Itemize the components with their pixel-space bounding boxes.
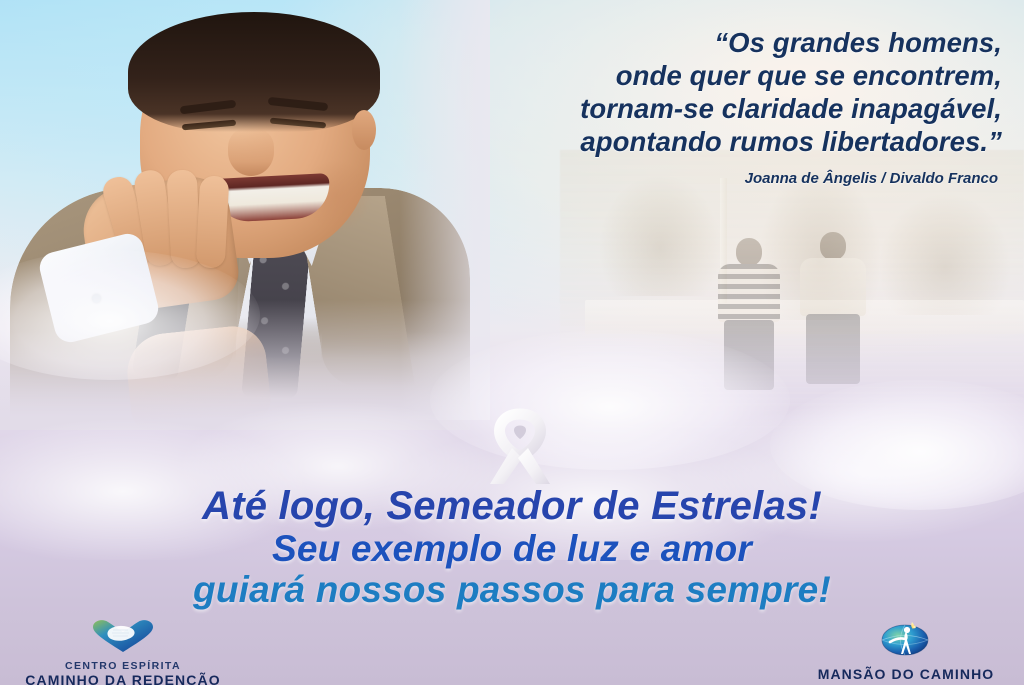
portrait-nose (228, 128, 274, 176)
figure-legs (724, 320, 775, 390)
portrait-hair (128, 12, 380, 132)
quote-line-1: “Os grandes homens, (442, 26, 1002, 59)
mourning-ribbon-icon (470, 402, 570, 490)
background-foliage-icon (600, 176, 720, 296)
quote-line-3: tornam-se claridade inapagável, (442, 92, 1002, 125)
figure-torso (718, 264, 780, 322)
globe-figure-torch-icon (796, 618, 1016, 663)
quote-line-4: apontando rumos libertadores.” (442, 125, 1002, 158)
quote-line-2: onde quer que se encontrem, (442, 59, 1002, 92)
portrait-ear (352, 110, 376, 150)
headline-line-1: Até logo, Semeador de Estrelas! (0, 484, 1024, 528)
logo-mansao-do-caminho: MANSÃO DO CAMINHO (796, 618, 1016, 682)
logo-left-line-2: CAMINHO DA REDENÇÃO (8, 672, 238, 685)
logo-right-line-1: MANSÃO DO CAMINHO (796, 666, 1016, 682)
figure-torso (800, 258, 866, 316)
headline-line-3: guiará nossos passos para sempre! (0, 569, 1024, 610)
logo-centro-espirita: CENTRO ESPÍRITA CAMINHO DA REDENÇÃO (8, 618, 238, 685)
memorial-poster: “Os grandes homens, onde quer que se enc… (0, 0, 1024, 685)
background-palm-icon (880, 195, 1010, 315)
quote-attribution: Joanna de Ângelis / Divaldo Franco (438, 170, 998, 187)
heart-hand-icon (8, 618, 238, 659)
figure-legs (806, 314, 860, 384)
headline: Até logo, Semeador de Estrelas! Seu exem… (0, 484, 1024, 610)
portrait-lower-hand (123, 323, 272, 432)
divaldo-franco-portrait (0, 0, 470, 420)
figure-head (820, 232, 846, 260)
portrait-cuff-button (92, 294, 101, 303)
figure-head (736, 238, 762, 266)
logo-left-line-1: CENTRO ESPÍRITA (8, 660, 238, 672)
background-figure-striped (718, 238, 780, 393)
portrait-finger (196, 175, 230, 268)
quote-text: “Os grandes homens, onde quer que se enc… (442, 26, 1002, 158)
background-figure-white-shirt (800, 232, 866, 392)
headline-line-2: Seu exemplo de luz e amor (0, 528, 1024, 569)
